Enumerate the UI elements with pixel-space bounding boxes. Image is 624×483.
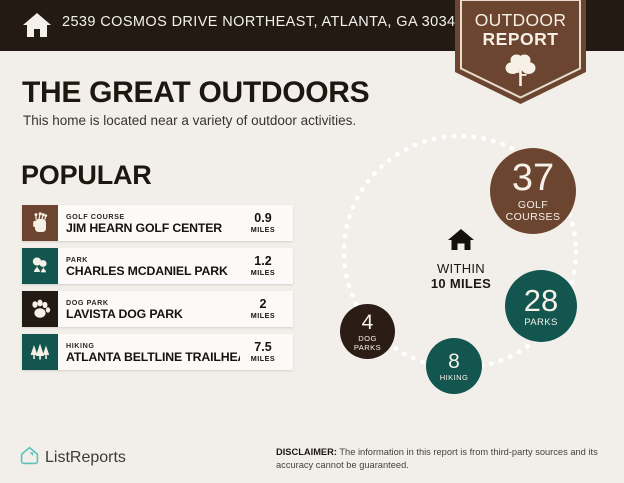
poi-distance-value: 2: [260, 298, 267, 311]
poi-distance: 2 MILES: [240, 291, 293, 327]
poi-distance-unit: MILES: [251, 225, 275, 234]
home-icon: [22, 11, 52, 39]
bubble-label-line-2: PARKS: [354, 343, 381, 352]
listreports-logo[interactable]: ListReports: [20, 446, 126, 470]
poi-distance: 7.5 MILES: [240, 334, 293, 370]
poi-distance-value: 0.9: [254, 212, 271, 225]
poi-icon-tile: [22, 205, 58, 241]
poi-text: GOLF COURSE JIM HEARN GOLF CENTER: [58, 205, 240, 241]
poi-distance-value: 7.5: [254, 341, 271, 354]
poi-name: JIM HEARN GOLF CENTER: [66, 221, 240, 235]
poi-text: DOG PARK LAVISTA DOG PARK: [58, 291, 240, 327]
bubble-value: 8: [448, 351, 460, 372]
bubble-hiking[interactable]: 8 HIKING: [426, 338, 482, 394]
poi-category: DOG PARK: [66, 298, 240, 307]
disclaimer-label: DISCLAIMER:: [276, 447, 337, 457]
paw-icon: [29, 299, 51, 320]
list-item[interactable]: DOG PARK LAVISTA DOG PARK 2 MILES: [22, 291, 293, 327]
listreports-logo-text: ListReports: [45, 449, 126, 467]
pine-trees-icon: [28, 342, 52, 362]
park-tree-icon: [29, 256, 51, 276]
poi-category: PARK: [66, 255, 240, 264]
poi-name: LAVISTA DOG PARK: [66, 307, 240, 321]
poi-icon-tile: [22, 248, 58, 284]
poi-text: HIKING ATLANTA BELTLINE TRAILHEAD: [58, 334, 240, 370]
poi-distance-unit: MILES: [251, 354, 275, 363]
bubble-label-line-1: HIKING: [440, 373, 469, 382]
within-10-miles-bubble-chart: 37 GOLF COURSES 28 PARKS 4 DOG PARKS 8 H…: [318, 130, 624, 415]
poi-text: PARK CHARLES MCDANIEL PARK: [58, 248, 240, 284]
bubble-label-line-1: PARKS: [524, 317, 558, 328]
poi-icon-tile: [22, 334, 58, 370]
chart-center-label: WITHIN 10 MILES: [406, 228, 516, 291]
poi-distance-unit: MILES: [251, 311, 275, 320]
poi-category: GOLF COURSE: [66, 212, 240, 221]
outdoor-report-badge: OUTDOOR REPORT: [455, 0, 586, 104]
outdoor-report-infographic: 2539 COSMOS DRIVE NORTHEAST, ATLANTA, GA…: [0, 0, 624, 483]
disclaimer: DISCLAIMER: The information in this repo…: [276, 446, 614, 471]
list-item[interactable]: HIKING ATLANTA BELTLINE TRAILHEAD 7.5 MI…: [22, 334, 293, 370]
bubble-label-line-2: COURSES: [506, 211, 561, 223]
bubble-dog-parks[interactable]: 4 DOG PARKS: [340, 304, 395, 359]
bubble-golf-courses[interactable]: 37 GOLF COURSES: [490, 148, 576, 234]
page-subtitle: This home is located near a variety of o…: [23, 113, 356, 128]
bubble-label-line-1: GOLF: [518, 199, 548, 211]
poi-distance: 0.9 MILES: [240, 205, 293, 241]
bubble-value: 4: [362, 312, 374, 333]
list-item[interactable]: GOLF COURSE JIM HEARN GOLF CENTER 0.9 MI…: [22, 205, 293, 241]
center-label-line-2: 10 MILES: [406, 276, 516, 291]
property-address: 2539 COSMOS DRIVE NORTHEAST, ATLANTA, GA…: [62, 14, 464, 30]
poi-category: HIKING: [66, 341, 240, 350]
page-title: THE GREAT OUTDOORS: [22, 76, 369, 110]
poi-distance-unit: MILES: [251, 268, 275, 277]
bubble-value: 37: [512, 159, 554, 197]
center-label-line-1: WITHIN: [406, 261, 516, 276]
poi-distance-value: 1.2: [254, 255, 271, 268]
list-item[interactable]: PARK CHARLES MCDANIEL PARK 1.2 MILES: [22, 248, 293, 284]
poi-distance: 1.2 MILES: [240, 248, 293, 284]
bubble-value: 28: [524, 285, 558, 316]
popular-poi-list: GOLF COURSE JIM HEARN GOLF CENTER 0.9 MI…: [22, 205, 293, 377]
home-icon: [406, 228, 516, 257]
golf-bag-icon: [30, 212, 50, 234]
bubble-label-line-1: DOG: [358, 334, 377, 343]
popular-section-heading: POPULAR: [21, 160, 152, 191]
poi-icon-tile: [22, 291, 58, 327]
listreports-house-icon: [20, 446, 39, 470]
poi-name: ATLANTA BELTLINE TRAILHEAD: [66, 350, 240, 364]
poi-name: CHARLES MCDANIEL PARK: [66, 264, 240, 278]
